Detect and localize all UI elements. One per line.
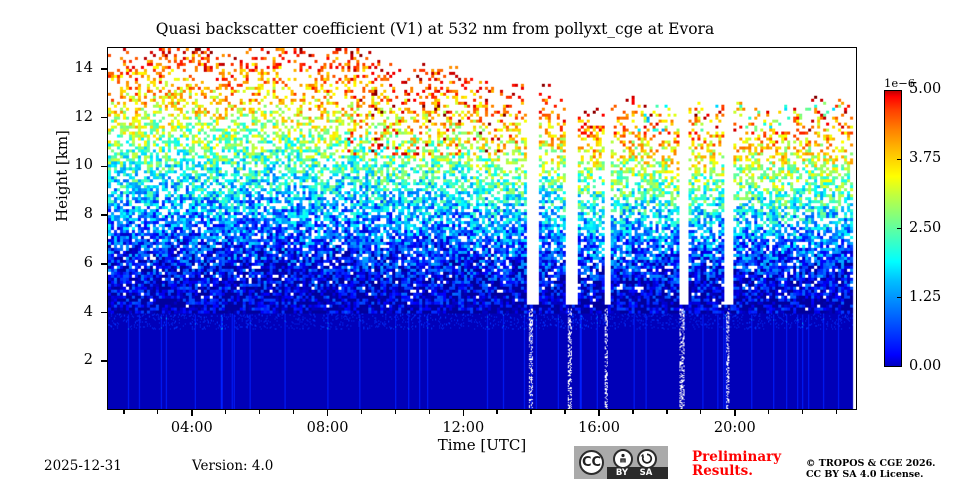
x-tick-mark-minor	[157, 410, 158, 414]
lidar-quasi-backscatter-figure: Quasi backscatter coefficient (V1) at 53…	[0, 0, 960, 480]
x-tick-mark-major	[327, 410, 329, 416]
copyright-line-1: © TROPOS & CGE 2026.	[806, 458, 936, 469]
y-tick-label: 14	[53, 61, 93, 76]
x-tick-mark-major	[191, 410, 193, 416]
y-tick-mark	[101, 214, 107, 216]
colorbar-tick-label: 0.00	[909, 359, 960, 374]
x-tick-mark-minor	[293, 410, 294, 414]
cc-main-label: CC	[581, 452, 602, 473]
y-tick-mark	[101, 263, 107, 265]
y-tick-mark	[101, 360, 107, 362]
cc-by-label: BY	[610, 467, 634, 479]
creative-commons-badge-icon[interactable]: CC BY SA	[574, 446, 668, 479]
colorbar-tick-label: 5.00	[909, 82, 960, 97]
colorbar-tick-mark	[897, 297, 902, 298]
x-tick-label: 20:00	[695, 421, 775, 436]
y-tick-mark	[101, 166, 107, 168]
x-tick-mark-minor	[564, 410, 565, 414]
x-tick-mark-minor	[225, 410, 226, 414]
sharealike-glyph	[639, 451, 655, 467]
colorbar-tick-label: 3.75	[909, 151, 960, 166]
y-tick-mark	[101, 117, 107, 119]
x-tick-mark-minor	[632, 410, 633, 414]
footer-version: Version: 4.0	[192, 458, 273, 474]
x-tick-mark-minor	[768, 410, 769, 414]
y-tick-label: 6	[53, 256, 93, 271]
colorbar[interactable]: 0.001.252.503.755.00	[884, 90, 902, 367]
x-tick-mark-minor	[429, 410, 430, 414]
y-tick-label: 12	[53, 110, 93, 125]
cc-sa-sharealike-icon	[637, 449, 657, 469]
x-tick-mark-minor	[123, 410, 124, 414]
y-tick-label: 8	[53, 207, 93, 222]
x-tick-mark-minor	[259, 410, 260, 414]
x-tick-mark-major	[598, 410, 600, 416]
x-tick-mark-minor	[666, 410, 667, 414]
person-glyph	[615, 451, 631, 467]
x-tick-label: 16:00	[559, 421, 639, 436]
x-tick-mark-minor	[496, 410, 497, 414]
colorbar-tick-mark	[897, 228, 902, 229]
colorbar-tick-mark	[897, 159, 902, 160]
y-tick-label: 4	[53, 305, 93, 320]
copyright-notice: © TROPOS & CGE 2026. CC BY SA 4.0 Licens…	[806, 458, 936, 480]
colorbar-tick-label: 1.25	[909, 290, 960, 305]
x-tick-mark-minor	[802, 410, 803, 414]
x-tick-mark-minor	[836, 410, 837, 414]
y-tick-mark	[101, 68, 107, 70]
y-tick-label: 2	[53, 353, 93, 368]
copyright-line-2: CC BY SA 4.0 License.	[806, 469, 936, 480]
page-title: Quasi backscatter coefficient (V1) at 53…	[0, 20, 870, 38]
y-tick-mark	[101, 312, 107, 314]
x-tick-mark-minor	[700, 410, 701, 414]
x-tick-mark-major	[734, 410, 736, 416]
x-tick-label: 12:00	[423, 421, 503, 436]
preliminary-line-1: Preliminary	[692, 450, 802, 464]
x-tick-mark-minor	[361, 410, 362, 414]
y-tick-label: 10	[53, 158, 93, 173]
cc-logo-icon: CC	[579, 450, 604, 475]
x-tick-label: 08:00	[288, 421, 368, 436]
heatmap-canvas	[108, 48, 856, 409]
x-tick-mark-minor	[530, 410, 531, 414]
preliminary-line-2: Results.	[692, 464, 802, 478]
preliminary-results-notice: Preliminary Results.	[692, 450, 802, 478]
x-tick-mark-minor	[395, 410, 396, 414]
x-tick-mark-major	[463, 410, 465, 416]
cc-by-person-icon	[613, 449, 633, 469]
plot-area[interactable]	[107, 47, 857, 410]
x-tick-label: 04:00	[152, 421, 232, 436]
y-axis-label: Height [km]	[53, 76, 71, 276]
footer-date: 2025-12-31	[44, 458, 122, 474]
cc-sa-label: SA	[634, 467, 658, 479]
colorbar-tick-label: 2.50	[909, 221, 960, 236]
